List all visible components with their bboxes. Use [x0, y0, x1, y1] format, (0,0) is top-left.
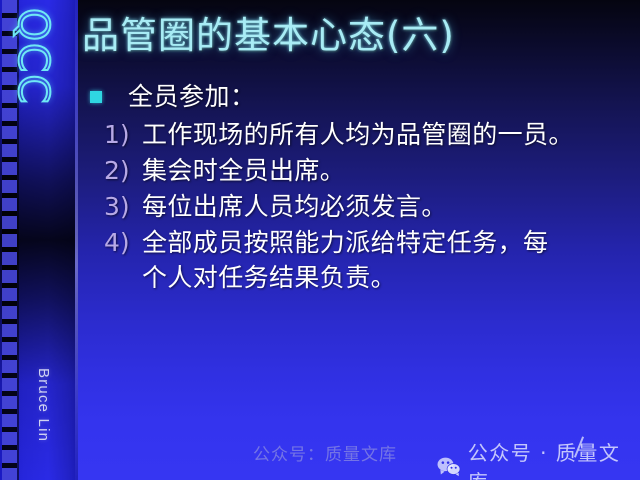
list-item: 2) 集会时全员出席。: [90, 153, 635, 188]
list-item-text: 全部成员按照能力派给特定任务，每 个人对任务结果负责。: [142, 225, 548, 295]
watermark-brand: 公众号 · 质量文库: [437, 437, 640, 480]
bullet-item-heading: 全员参加：: [90, 80, 635, 113]
list-item-text-line1: 全部成员按照能力派给特定任务，每: [142, 225, 548, 260]
qcc-logo: QCC: [9, 8, 58, 106]
list-item-text: 每位出席人员均必须发言。: [142, 189, 447, 224]
list-item: 3) 每位出席人员均必须发言。: [90, 189, 635, 224]
wechat-icon: [437, 456, 461, 477]
list-item: 1) 工作现场的所有人均为品管圈的一员。: [90, 117, 635, 152]
list-item-number: 2): [90, 153, 142, 188]
list-item-text-line2: 个人对任务结果负责。: [142, 260, 548, 295]
list-item-text: 工作现场的所有人均为品管圈的一员。: [142, 117, 574, 152]
square-bullet-icon: [90, 91, 102, 103]
slide-canvas: QCC Bruce Lin 品管圈的基本心态(六) 全员参加： 1) 工作现场的…: [0, 0, 640, 480]
bullet-heading-label: 全员参加：: [128, 80, 256, 113]
list-item-number: 4): [90, 225, 142, 260]
list-item-number: 3): [90, 189, 142, 224]
list-item-number: 1): [90, 117, 142, 152]
watermark-faint: 公众号：质量文库: [253, 440, 397, 465]
slide-body: 全员参加： 1) 工作现场的所有人均为品管圈的一员。 2) 集会时全员出席。 3…: [90, 80, 635, 296]
page-title: 品管圈的基本心态(六): [82, 14, 455, 58]
watermark-brand-label: 公众号 · 质量文库: [468, 437, 640, 480]
list-item-text: 集会时全员出席。: [142, 153, 345, 188]
list-item: 4) 全部成员按照能力派给特定任务，每 个人对任务结果负责。: [90, 225, 635, 295]
author-label: Bruce Lin: [35, 368, 52, 442]
